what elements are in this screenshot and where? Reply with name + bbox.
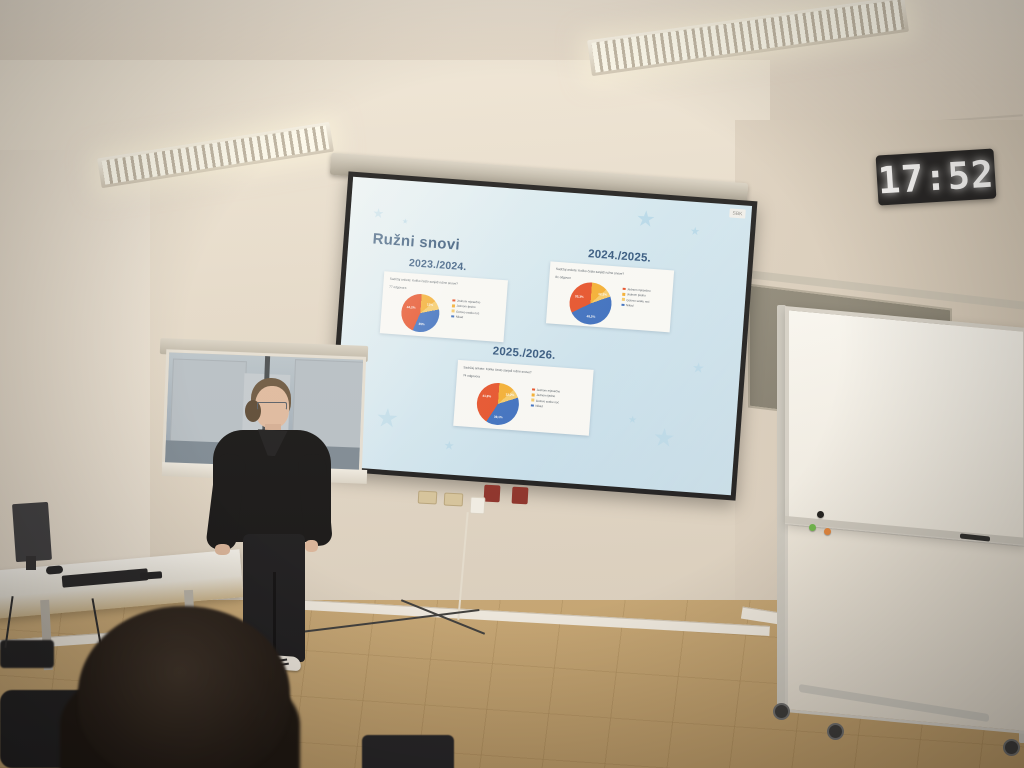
mobile-whiteboard	[775, 305, 1024, 745]
year-label-2024: 2024./2025.	[588, 248, 652, 265]
desk-cable-bundle	[0, 640, 54, 668]
legend-label: Nikad	[535, 404, 543, 409]
pie-slice-label: 33,3%	[575, 294, 584, 299]
pie-slice-label: 13%	[427, 302, 433, 306]
pie-slice-label: 12,2%	[505, 392, 514, 397]
star-icon: ★	[690, 227, 701, 239]
whiteboard-caster	[773, 703, 790, 720]
legend-swatch	[622, 293, 625, 296]
star-icon: ★	[375, 404, 400, 432]
plug	[470, 497, 486, 515]
legend-swatch	[532, 388, 535, 391]
legend-label: Jednom tjedno	[536, 393, 555, 398]
projected-slide: ★ ★ ★ ★ ★ ★ ★ ★ ★ Ružni snovi 2023./2024…	[332, 177, 752, 496]
star-icon: ★	[402, 218, 409, 225]
legend-swatch	[531, 399, 534, 402]
legend-label: Nikad	[626, 303, 634, 308]
desktop-monitor	[12, 502, 52, 562]
year-label-2025: 2025./2026.	[492, 345, 556, 362]
chart-card-2024: Sadržaj ankete: Koliko često sanjaš ružn…	[546, 261, 674, 332]
screen-brand-logo: SBK	[729, 208, 746, 218]
pie-slice-label: 44,2%	[407, 305, 416, 310]
star-icon: ★	[443, 439, 455, 452]
star-icon: ★	[652, 425, 676, 452]
presenter-right-hand	[305, 540, 318, 552]
legend-label: Jednom tjedno	[456, 304, 475, 309]
power-socket[interactable]	[444, 493, 464, 507]
legend-swatch	[452, 304, 455, 307]
legend-swatch	[622, 298, 625, 301]
screen-glare	[332, 177, 752, 496]
power-socket[interactable]	[418, 491, 438, 505]
star-icon: ★	[692, 360, 706, 375]
pie-chart-2024	[568, 281, 613, 326]
whiteboard-caster	[1003, 739, 1020, 756]
whiteboard-surface[interactable]	[785, 306, 1024, 546]
chart-card-2023: Sadržaj ankete: Koliko često sanjaš ružn…	[380, 271, 508, 342]
legend-item: Nikad	[531, 404, 559, 410]
glasses-icon	[257, 402, 287, 410]
legend-swatch	[532, 393, 535, 396]
magnet-black[interactable]	[817, 511, 824, 518]
legend-item: Nikad	[621, 303, 649, 309]
pie-chart-2025	[475, 381, 520, 426]
clock-time: 17:52	[877, 152, 996, 202]
pie-slice-label: 35%	[418, 322, 424, 326]
pie-slice-label: 41,9%	[482, 394, 491, 399]
magnet-green[interactable]	[809, 524, 816, 531]
digital-wall-clock: 17:52	[876, 148, 997, 205]
legend-label: Nikad	[456, 315, 464, 320]
monitor-stand	[26, 556, 36, 570]
pie-slice-label: 12,3%	[598, 292, 607, 297]
pie-slice-label: 48,2%	[586, 314, 595, 319]
legend-swatch	[452, 299, 455, 302]
chart-legend-2024: Jednom mjesečno Jednom tjedno Gotovo sva…	[621, 287, 651, 311]
classroom-photo: 17:52 ★ ★ ★ ★ ★ ★ ★ ★ ★ Ružni snovi 2023…	[0, 0, 1024, 768]
seated-student	[78, 606, 290, 768]
whiteboard-caster	[827, 723, 844, 740]
chart-legend-2023: Jednom mjesečno Jednom tjedno Gotovo sva…	[451, 298, 481, 322]
pie-chart-2023	[400, 293, 441, 334]
star-icon: ★	[635, 208, 656, 231]
legend-swatch	[531, 404, 534, 407]
magnet-orange[interactable]	[824, 528, 831, 535]
presenter-left-hand	[215, 544, 230, 555]
legend-swatch	[451, 310, 454, 313]
chart-legend-2025: Jednom mjesečno Jednom tjedno Gotovo sva…	[531, 387, 561, 411]
projector-screen: ★ ★ ★ ★ ★ ★ ★ ★ ★ Ružni snovi 2023./2024…	[327, 171, 758, 500]
power-socket-red[interactable]	[484, 485, 501, 503]
bag-on-floor	[362, 735, 454, 768]
power-socket-red[interactable]	[512, 487, 529, 505]
legend-label: Jednom tjedno	[627, 292, 646, 297]
year-label-2023: 2023./2024.	[409, 257, 467, 273]
legend-swatch	[621, 304, 624, 307]
slide-title: Ružni snovi	[372, 230, 460, 253]
legend-item: Nikad	[451, 314, 479, 320]
star-icon: ★	[628, 416, 638, 427]
legend-swatch	[451, 315, 454, 318]
star-icon: ★	[372, 206, 385, 220]
pie-slice-label: 39,1%	[494, 415, 503, 420]
legend-swatch	[623, 287, 626, 290]
chart-card-2025: Sadržaj ankete: Koliko često sanjaš ružn…	[453, 360, 593, 436]
